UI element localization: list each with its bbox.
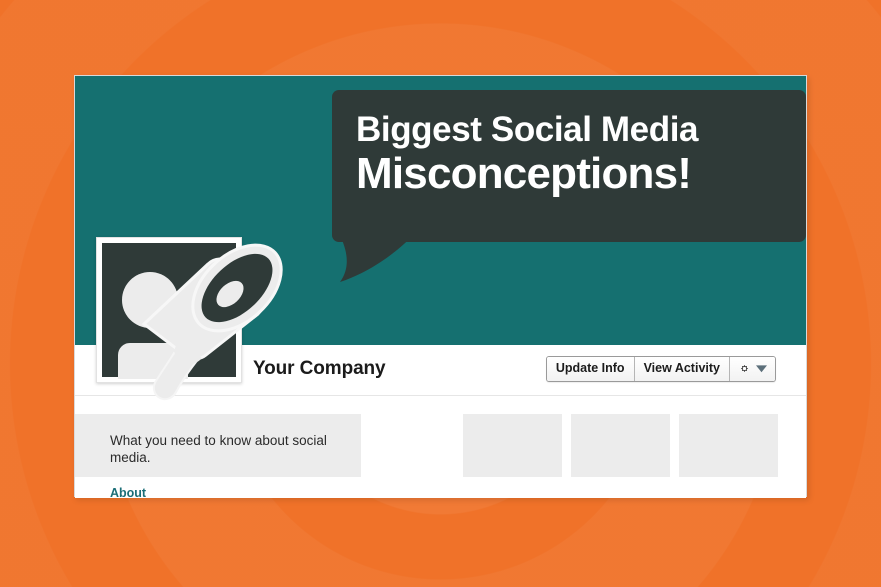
avatar[interactable]: [96, 237, 242, 383]
screenshot-stage: Biggest Social Media Misconceptions!: [0, 0, 881, 587]
avatar-inner-frame: [102, 243, 236, 377]
profile-page-card: Biggest Social Media Misconceptions!: [74, 75, 807, 497]
headline-line-2: Misconceptions!: [356, 150, 782, 198]
about-description: What you need to know about social media…: [110, 432, 350, 466]
page-title: Your Company: [253, 358, 386, 380]
headline-line-1: Biggest Social Media: [356, 112, 782, 148]
content-placeholder-2[interactable]: [571, 414, 670, 477]
speech-bubble-body: Biggest Social Media Misconceptions!: [332, 90, 806, 242]
about-link[interactable]: About: [110, 486, 146, 500]
update-info-button[interactable]: Update Info: [547, 357, 635, 381]
content-placeholder-1[interactable]: [463, 414, 562, 477]
cover-photo[interactable]: Biggest Social Media Misconceptions!: [75, 76, 806, 345]
profile-button-group: Update Info View Activity: [546, 356, 776, 382]
gear-icon: [738, 362, 751, 375]
speech-bubble: Biggest Social Media Misconceptions!: [332, 90, 806, 297]
content-placeholder-3[interactable]: [679, 414, 778, 477]
view-activity-button[interactable]: View Activity: [635, 357, 730, 381]
content-row: What you need to know about social media…: [75, 396, 806, 498]
chevron-down-icon: [756, 365, 767, 373]
settings-menu-button[interactable]: [730, 357, 775, 381]
